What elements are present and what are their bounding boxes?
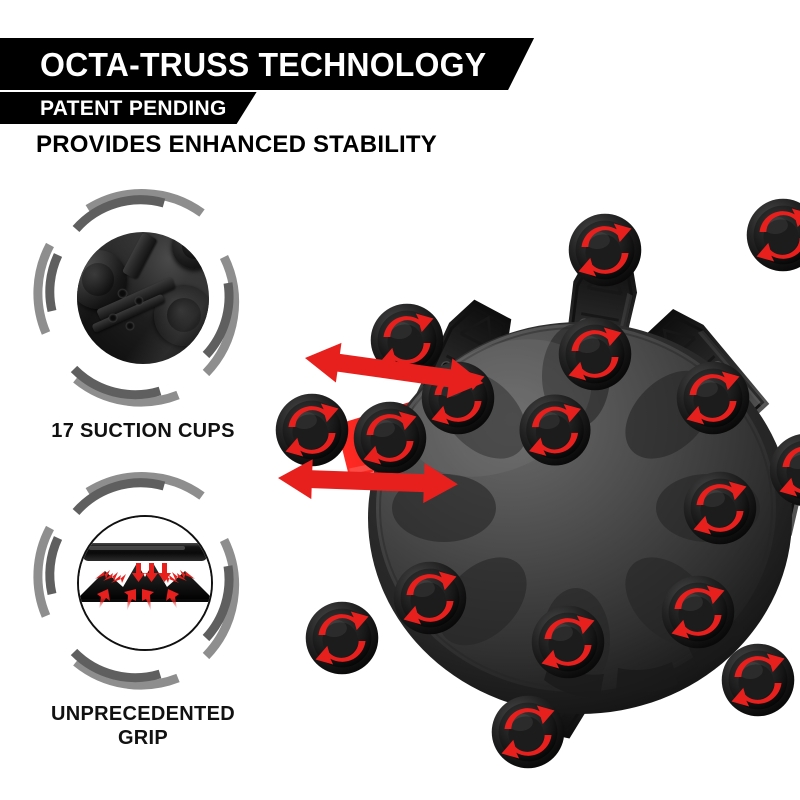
suction-pod xyxy=(492,696,565,769)
header-title-banner: OCTA-TRUSS TECHNOLOGY xyxy=(0,38,534,90)
grip-cross-section-diagram xyxy=(79,517,211,649)
suction-pod xyxy=(532,606,605,679)
suction-pod xyxy=(276,394,349,467)
suction-pod xyxy=(559,318,632,391)
patent-pending-label: PATENT PENDING xyxy=(40,98,227,119)
infographic-canvas: OCTA-TRUSS TECHNOLOGY PATENT PENDING PRO… xyxy=(0,0,800,800)
product-illustration xyxy=(250,140,800,780)
suction-pod xyxy=(306,602,379,675)
feature-suction-cups-label: 17 SUCTION CUPS xyxy=(18,419,268,443)
feature-grip-label-line-1: UNPRECEDENTED xyxy=(18,702,268,726)
feature-grip-label-line-2: GRIP xyxy=(18,726,268,750)
suction-cups-photo xyxy=(77,232,209,364)
suction-pod xyxy=(354,402,427,475)
grip-ring-wrap xyxy=(28,466,258,696)
grip-diagram xyxy=(77,515,213,651)
suction-pod xyxy=(662,576,735,649)
feature-grip-label: UNPRECEDENTED GRIP xyxy=(18,702,268,751)
product-image-octa-truss-mount xyxy=(250,140,800,780)
page-title: OCTA-TRUSS TECHNOLOGY xyxy=(40,48,486,81)
suction-pod xyxy=(722,644,795,717)
suction-pod xyxy=(569,214,642,287)
feature-grip: UNPRECEDENTED GRIP xyxy=(18,466,268,751)
suction-pod xyxy=(394,562,467,635)
feature-suction-cups: 17 SUCTION CUPS xyxy=(18,183,268,443)
suction-ring-wrap xyxy=(28,183,258,413)
patent-pending-banner: PATENT PENDING xyxy=(0,92,257,124)
suction-pod xyxy=(677,362,750,435)
suction-pod-center xyxy=(519,394,590,465)
macro-photo-suction-cups xyxy=(77,232,209,364)
suction-pod xyxy=(684,472,757,545)
suction-pod xyxy=(747,199,800,272)
